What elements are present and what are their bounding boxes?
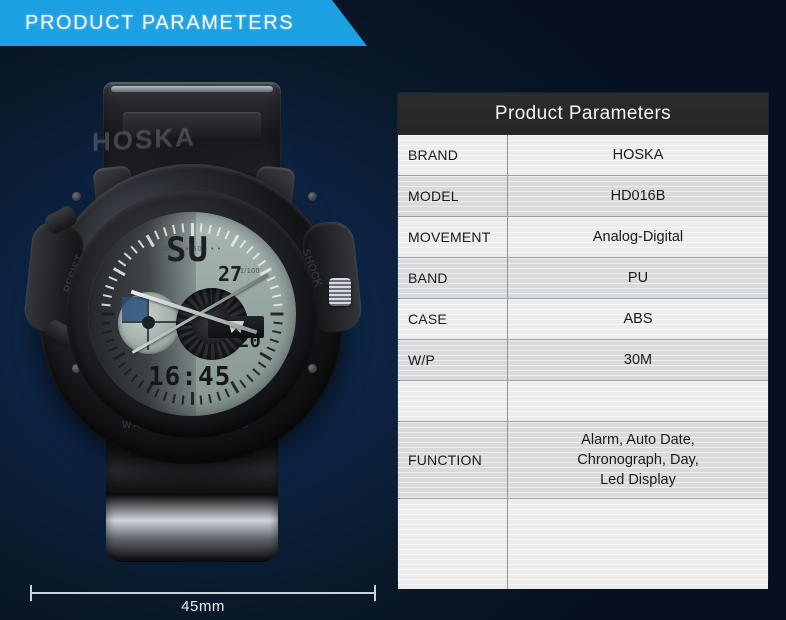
- dial-tick: [270, 285, 279, 290]
- table-row: FUNCTIONAlarm, Auto Date, Chronograph, D…: [398, 422, 768, 499]
- subdial-hub: [142, 316, 155, 329]
- page-background: PRODUCT PARAMETERS HOSKA RESIST SHOCK WA…: [0, 0, 786, 620]
- table-cell-value: PU: [508, 258, 768, 298]
- dial-tick: [270, 313, 283, 316]
- dial-tick: [272, 330, 281, 334]
- dial-tick: [267, 276, 276, 281]
- table-row: BRANDHOSKA: [398, 135, 768, 176]
- dial-tick: [259, 352, 272, 361]
- table-row-empty: [398, 381, 768, 422]
- dial-tick: [272, 294, 281, 298]
- table-cell-key: FUNCTION: [398, 422, 508, 498]
- dial-tick: [138, 380, 145, 388]
- dial-tick: [101, 322, 110, 325]
- dial-tick: [103, 330, 112, 334]
- table-cell-key: [398, 499, 508, 589]
- table-cell-key: MODEL: [398, 176, 508, 216]
- table-cell-value: [508, 381, 768, 421]
- dial-tick: [108, 346, 117, 351]
- watch-crown: [329, 278, 351, 306]
- lcd-time-display: 16:45: [148, 362, 268, 392]
- watch-screw: [72, 192, 81, 201]
- dial-tick: [216, 392, 221, 401]
- table-cell-value: 30M: [508, 340, 768, 380]
- table-cell-value: [508, 499, 768, 589]
- dial-tick: [103, 294, 112, 298]
- dial-tick: [124, 252, 132, 260]
- dial-tick: [112, 352, 125, 361]
- table-row: W/P30M: [398, 340, 768, 381]
- dial-tick: [154, 230, 159, 239]
- table-cell-value: HD016B: [508, 176, 768, 216]
- watch-screw: [308, 192, 317, 201]
- product-image: HOSKA RESIST SHOCK WATER RESIST 30M 100 …: [18, 72, 370, 572]
- dial-tick: [108, 276, 117, 281]
- dial-tick: [101, 313, 114, 316]
- lcd-date-display: 27: [218, 262, 242, 286]
- dial-tick: [118, 361, 126, 368]
- table-row: MODELHD016B: [398, 176, 768, 217]
- table-cell-key: MOVEMENT: [398, 217, 508, 257]
- dial-tick: [112, 267, 125, 276]
- dial-tick: [181, 395, 184, 404]
- table-cell-key: BRAND: [398, 135, 508, 175]
- dimension-label: 45mm: [0, 598, 406, 615]
- dial-tick: [200, 395, 203, 404]
- watch-screw: [308, 364, 317, 373]
- table-body: BRANDHOSKAMODELHD016BMOVEMENTAnalog-Digi…: [398, 135, 768, 589]
- page-title: PRODUCT PARAMETERS: [25, 0, 294, 46]
- table-cell-key: [398, 381, 508, 421]
- watch-dial: 100 • • 500 • • 1/100 SU 27 20 16:45: [88, 212, 296, 416]
- dial-tick: [208, 394, 212, 403]
- dial-tick: [105, 285, 114, 290]
- dial-tick: [118, 260, 126, 267]
- table-cell-value: Analog-Digital: [508, 217, 768, 257]
- dial-tick: [130, 374, 138, 382]
- dial-tick: [273, 322, 282, 325]
- dial-tick: [172, 394, 176, 403]
- lcd-day-display: SU: [166, 230, 262, 270]
- dial-tick: [191, 392, 194, 405]
- dial-tick: [101, 303, 110, 306]
- dial-tick: [124, 368, 132, 376]
- table-row: MOVEMENTAnalog-Digital: [398, 217, 768, 258]
- parameters-table: Product Parameters BRANDHOSKAMODELHD016B…: [398, 93, 768, 580]
- table-cell-key: CASE: [398, 299, 508, 339]
- table-cell-value: HOSKA: [508, 135, 768, 175]
- table-row: CASEABS: [398, 299, 768, 340]
- dial-tick: [105, 338, 114, 343]
- table-cell-key: BAND: [398, 258, 508, 298]
- table-cell-value: Alarm, Auto Date, Chronograph, Day, Led …: [508, 422, 768, 498]
- table-title: Product Parameters: [398, 93, 768, 135]
- dimension-line: [30, 592, 376, 594]
- table-cell-value: ABS: [508, 299, 768, 339]
- table-cell-key: W/P: [398, 340, 508, 380]
- dial-subdial: [118, 292, 180, 354]
- dial-tick: [267, 346, 276, 351]
- dial-tick: [270, 338, 279, 343]
- table-row: BANDPU: [398, 258, 768, 299]
- table-row-empty: [398, 499, 768, 589]
- dial-tick: [273, 303, 282, 306]
- dial-tick: [163, 392, 168, 401]
